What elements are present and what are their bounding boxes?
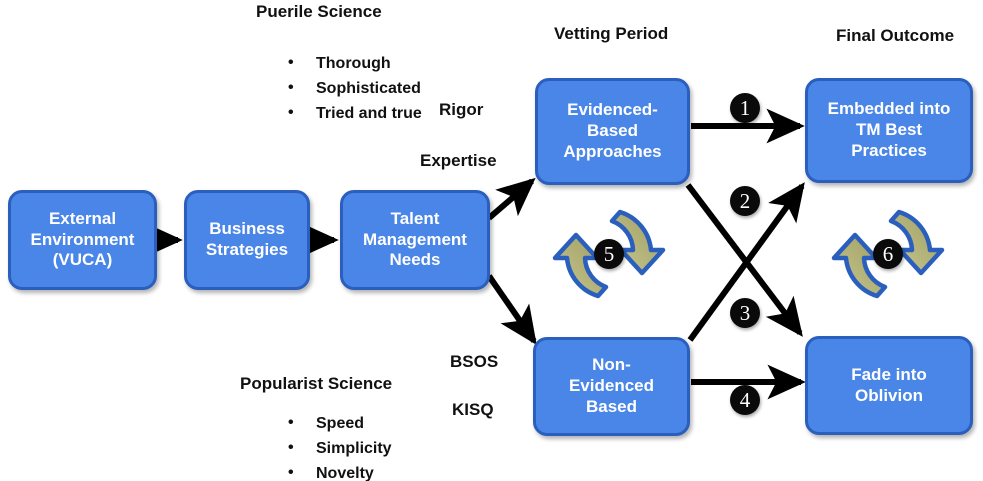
badge-6: 6	[873, 239, 903, 269]
list-item: Tried and true	[278, 101, 422, 126]
node-external-environment[interactable]: External Environment (VUCA)	[8, 190, 157, 290]
node-business-strategies[interactable]: Business Strategies	[184, 190, 310, 290]
label-rigor: Rigor	[439, 100, 483, 120]
badge-4: 4	[730, 385, 760, 415]
node-non-evidenced-based[interactable]: Non- Evidenced Based	[533, 337, 690, 436]
header-final-outcome: Final Outcome	[836, 26, 954, 46]
arrow-talent-to-non-evidenced	[489, 276, 534, 341]
popularist-science-bullets: Speed Simplicity Novelty	[278, 411, 392, 481]
node-label: Business Strategies	[200, 219, 294, 260]
node-label: External Environment (VUCA)	[25, 209, 141, 271]
list-item: Sophisticated	[278, 76, 422, 101]
list-item: Simplicity	[278, 436, 392, 461]
badge-3: 3	[730, 298, 760, 328]
list-item: Thorough	[278, 51, 422, 76]
diagram-canvas: Puerile Science Vetting Period Final Out…	[0, 0, 983, 481]
node-fade-into-oblivion[interactable]: Fade into Oblivion	[805, 336, 973, 435]
badge-2: 2	[730, 186, 760, 216]
label-expertise: Expertise	[420, 151, 497, 171]
node-label: Embedded into TM Best Practices	[822, 99, 957, 161]
header-vetting-period: Vetting Period	[554, 24, 668, 44]
list-item: Novelty	[278, 461, 392, 481]
node-talent-management-needs[interactable]: Talent Management Needs	[340, 190, 490, 290]
puerile-science-bullets: Thorough Sophisticated Tried and true	[278, 51, 422, 126]
arrow-talent-to-evidenced	[489, 181, 532, 218]
node-label: Talent Management Needs	[357, 209, 473, 271]
node-label: Evidenced- Based Approaches	[557, 100, 667, 162]
label-bsos: BSOS	[450, 352, 498, 372]
badge-5: 5	[594, 239, 624, 269]
node-embedded-into-tm-best-practices[interactable]: Embedded into TM Best Practices	[805, 78, 973, 183]
header-puerile-science: Puerile Science	[256, 2, 382, 22]
node-label: Non- Evidenced Based	[563, 355, 660, 417]
list-item: Speed	[278, 411, 392, 436]
node-evidenced-based-approaches[interactable]: Evidenced- Based Approaches	[535, 78, 690, 185]
label-kisq: KISQ	[452, 400, 494, 420]
node-label: Fade into Oblivion	[845, 365, 933, 406]
badge-1: 1	[730, 93, 760, 123]
header-popularist-science: Popularist Science	[240, 374, 392, 394]
